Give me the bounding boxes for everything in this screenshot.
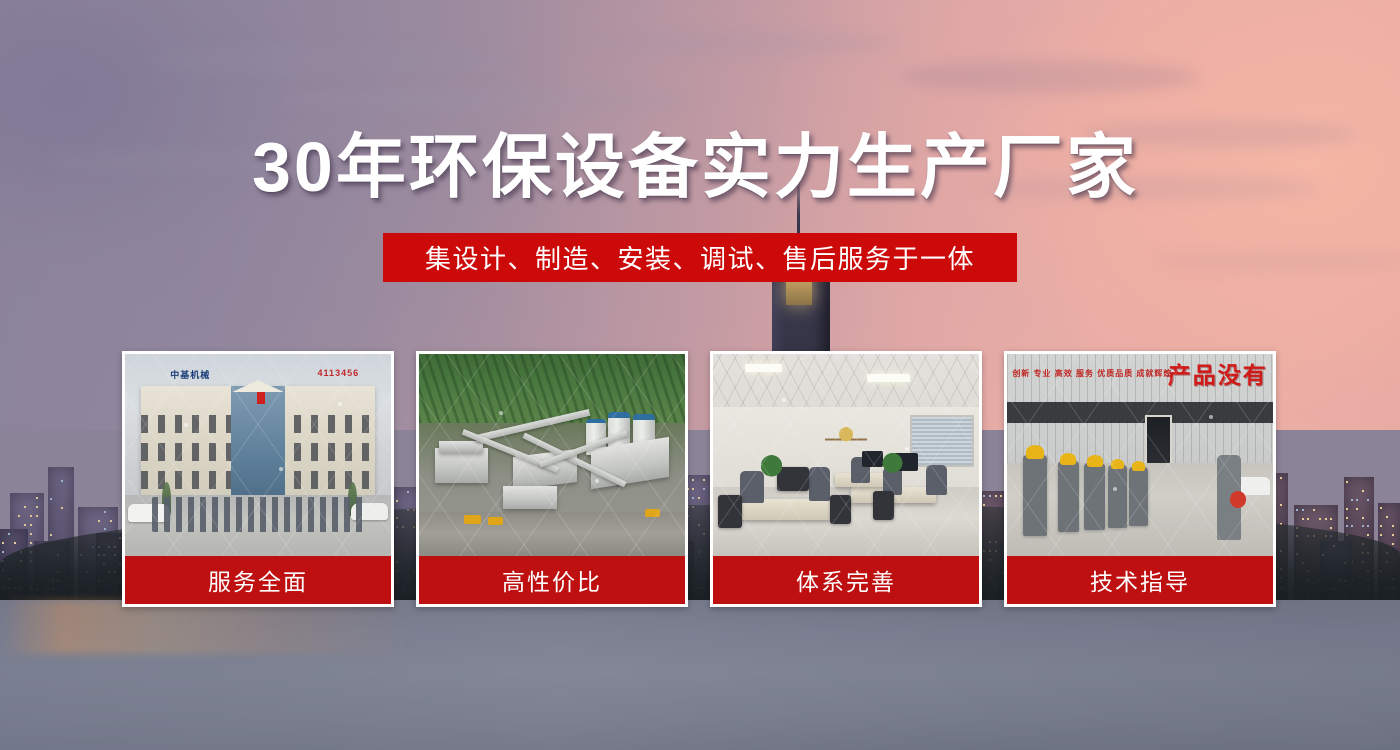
cloud-shape [150, 45, 510, 75]
card-photo-plant-aerial [419, 354, 685, 556]
building-phone-text: 4113456 [318, 368, 360, 378]
feature-card[interactable]: 体系完善 [710, 351, 982, 607]
card-caption: 服务全面 [125, 556, 391, 604]
card-photo-workers-factory: 产品没有 创新 专业 高效 服务 优质品质 成就辉煌 [1007, 354, 1273, 556]
subtitle-banner: 集设计、制造、安装、调试、售后服务于一体 [383, 233, 1017, 282]
cloud-shape [600, 30, 900, 56]
card-caption: 体系完善 [713, 556, 979, 604]
feature-card[interactable]: 中基机械 4113456 服务全面 [122, 351, 394, 607]
feature-card[interactable]: 高性价比 [416, 351, 688, 607]
cloud-shape [900, 60, 1200, 94]
factory-sign-small-text: 创新 专业 高效 服务 优质品质 成就辉煌 [1012, 368, 1172, 380]
page-title: 30年环保设备实力生产厂家 [252, 132, 1152, 202]
feature-card-row: 中基机械 4113456 服务全面 [122, 351, 1278, 607]
promo-banner: 30年环保设备实力生产厂家 集设计、制造、安装、调试、售后服务于一体 中基机械 … [0, 0, 1400, 750]
card-photo-office-interior [713, 354, 979, 556]
water-light-reflection [0, 600, 520, 654]
building-sign-text: 中基机械 [170, 368, 210, 381]
feature-card[interactable]: 产品没有 创新 专业 高效 服务 优质品质 成就辉煌 [1004, 351, 1276, 607]
subtitle-text: 集设计、制造、安装、调试、售后服务于一体 [425, 239, 975, 276]
card-photo-headquarters: 中基机械 4113456 [125, 354, 391, 556]
factory-sign-text: 产品没有 [1168, 356, 1268, 390]
card-caption: 高性价比 [419, 556, 685, 604]
card-caption: 技术指导 [1007, 556, 1273, 604]
cloud-shape [280, 88, 700, 112]
